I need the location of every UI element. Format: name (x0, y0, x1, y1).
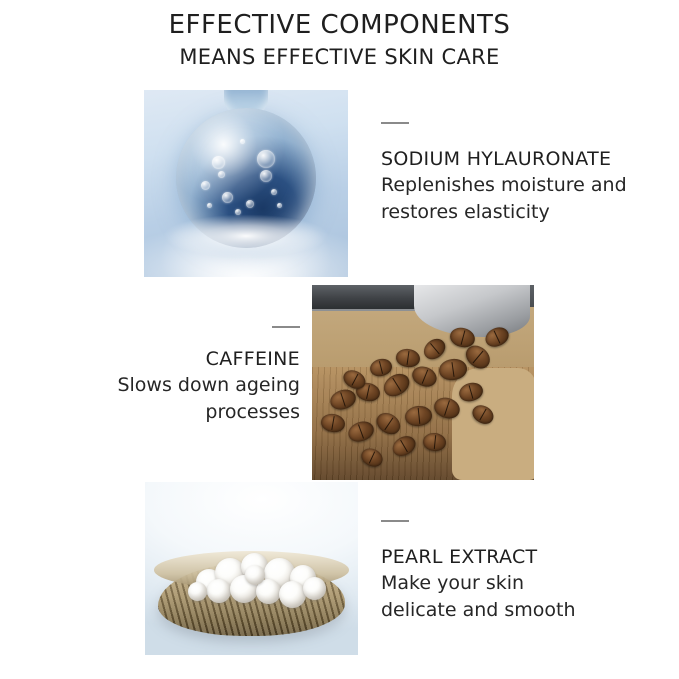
pearl (188, 582, 207, 601)
ingredient-desc-line2: processes (117, 399, 300, 426)
bubble-icon (201, 181, 210, 190)
pearl (303, 577, 326, 600)
pearl (245, 565, 265, 585)
divider-dash (381, 122, 409, 124)
bubble-icon (257, 150, 275, 168)
section-pearl-extract: PEARL EXTRACT Make your skin delicate an… (381, 520, 576, 624)
ingredient-desc-line2: restores elasticity (381, 199, 627, 226)
section-caffeine: CAFFEINE Slows down ageing processes (117, 326, 300, 426)
bubble-icon (260, 170, 272, 182)
infographic-page: EFFECTIVE COMPONENTS MEANS EFFECTIVE SKI… (0, 0, 679, 679)
page-title: EFFECTIVE COMPONENTS (0, 8, 679, 42)
page-subtitle: MEANS EFFECTIVE SKIN CARE (0, 42, 679, 72)
header: EFFECTIVE COMPONENTS MEANS EFFECTIVE SKI… (0, 8, 679, 72)
droplet-glow (144, 206, 348, 266)
bubble-icon (212, 156, 225, 169)
pearls-in-oyster-shell-photo (145, 482, 358, 655)
ingredient-desc-line1: Make your skin (381, 570, 576, 597)
ingredient-name: CAFFEINE (117, 346, 300, 372)
coffee-bean (420, 334, 449, 363)
pearl (279, 581, 306, 608)
metal-scoop (414, 285, 530, 337)
ingredient-desc-line1: Slows down ageing (117, 372, 300, 399)
ingredient-name: SODIUM HYLAURONATE (381, 146, 627, 172)
ingredient-desc-line2: delicate and smooth (381, 597, 576, 624)
pearl (207, 579, 231, 603)
ingredient-desc-line1: Replenishes moisture and (381, 172, 627, 199)
section-sodium-hyaluronate: SODIUM HYLAURONATE Replenishes moisture … (381, 122, 627, 226)
bubble-icon (271, 189, 277, 195)
bubble-icon (222, 192, 233, 203)
bubble-icon (218, 171, 225, 178)
bubble-icon (240, 139, 245, 144)
divider-dash (381, 520, 409, 522)
ingredient-name: PEARL EXTRACT (381, 544, 576, 570)
divider-dash (272, 326, 300, 328)
coffee-beans-photo (312, 285, 534, 480)
water-droplet-photo (144, 90, 348, 277)
